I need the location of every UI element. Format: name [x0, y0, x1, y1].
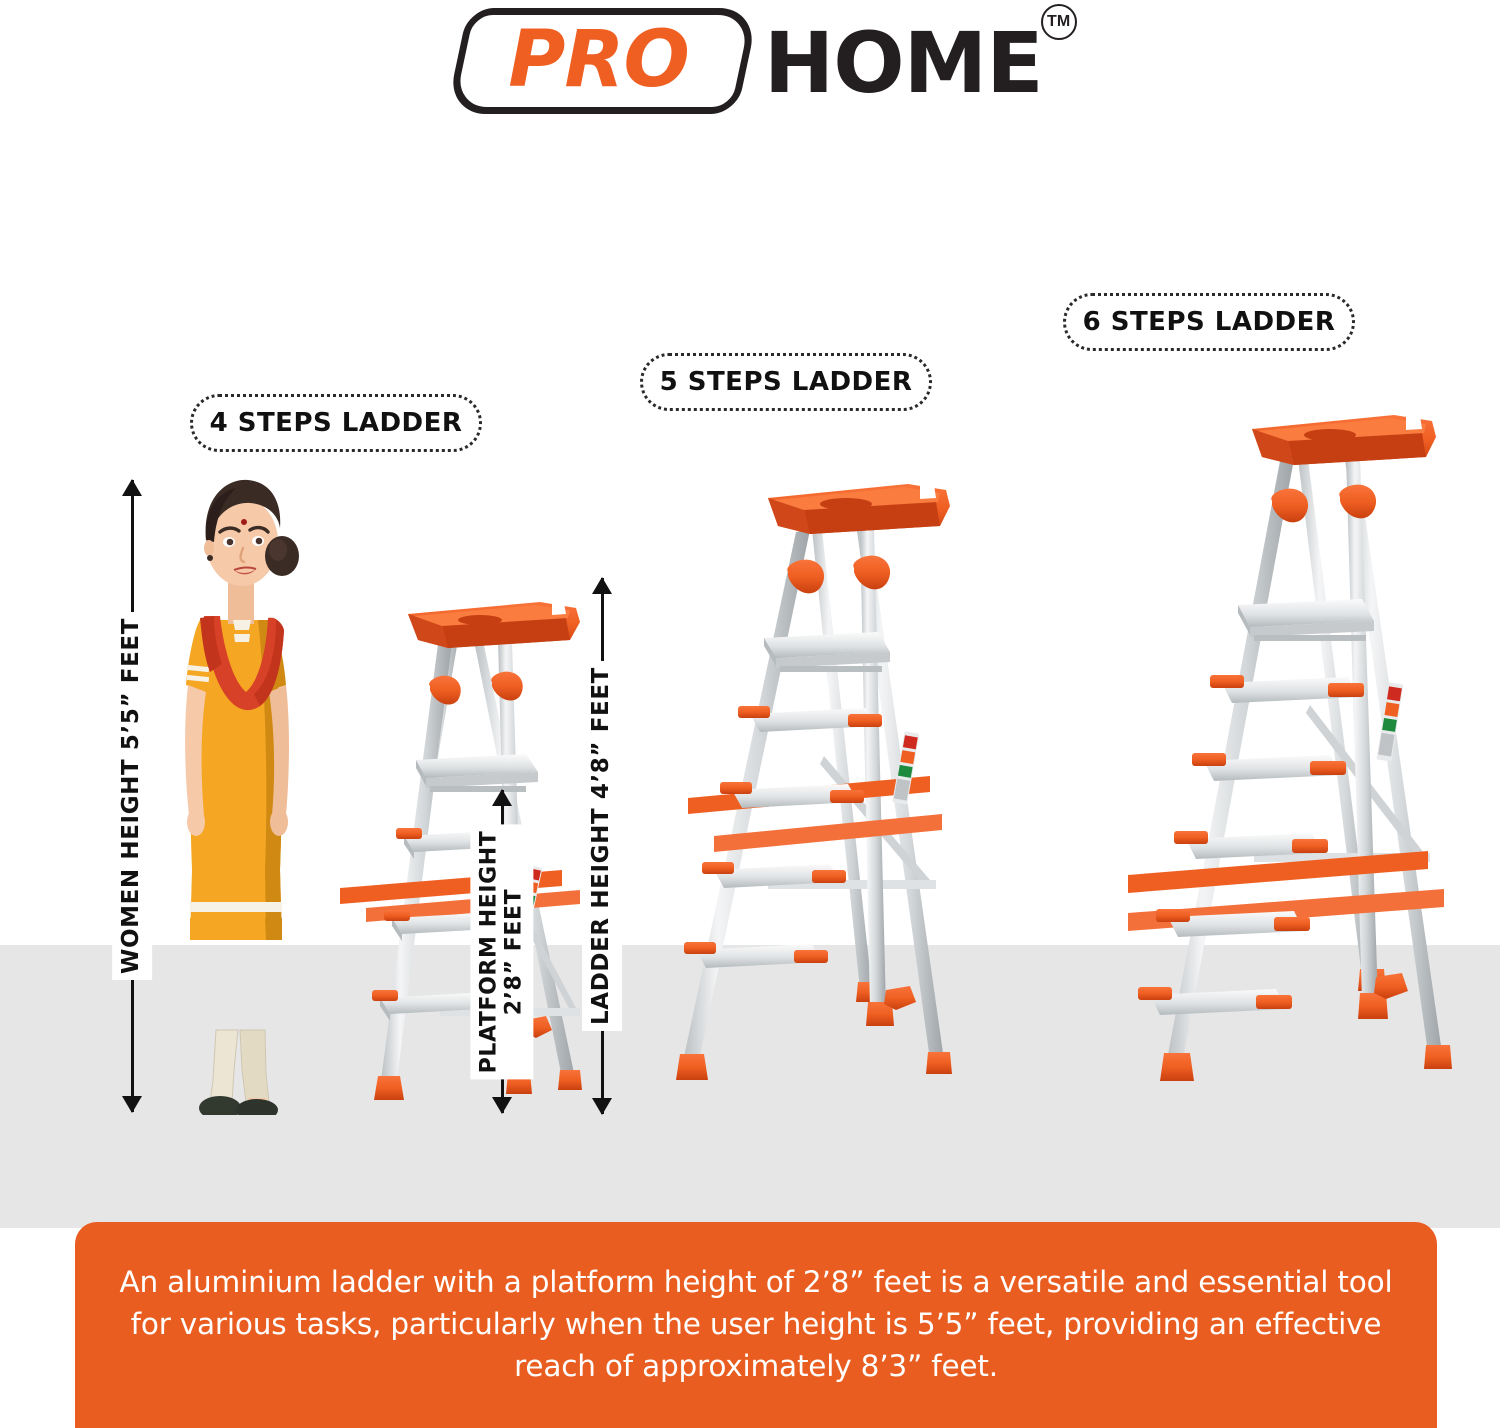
arrow-down-icon — [122, 1096, 142, 1113]
arrow-down-icon — [492, 1097, 512, 1114]
brand-logo: PRO HOME TM — [0, 8, 1500, 114]
dimension-ladder-height: LADDER HEIGHT 4’8” FEET — [590, 578, 614, 1114]
badge-6-steps: 6 STEPS LADDER — [1063, 293, 1355, 351]
dimension-women-height: WOMEN HEIGHT 5’5” FEET — [120, 480, 144, 1112]
infographic-canvas: PRO HOME TM 4 STEPS LADDER 5 STEPS LADDE… — [0, 0, 1500, 1428]
logo-home-text: HOME — [764, 21, 1043, 105]
arrow-down-icon — [592, 1098, 612, 1115]
logo-pro-badge: PRO — [446, 8, 759, 114]
dimension-platform-height-label: PLATFORM HEIGHT 2’8” FEET — [470, 824, 533, 1079]
description-text: An aluminium ladder with a platform heig… — [119, 1262, 1393, 1388]
dimension-ladder-height-label: LADDER HEIGHT 4’8” FEET — [582, 661, 622, 1031]
description-panel: An aluminium ladder with a platform heig… — [75, 1222, 1437, 1428]
logo-pro-text: PRO — [509, 21, 690, 99]
dimension-platform-height: PLATFORM HEIGHT 2’8” FEET — [490, 790, 514, 1113]
trademark-icon: TM — [1041, 4, 1077, 40]
dimension-platform-height-line1: PLATFORM HEIGHT — [477, 830, 502, 1073]
badge-4-steps: 4 STEPS LADDER — [190, 394, 482, 452]
arrow-up-icon — [122, 479, 142, 496]
badge-5-steps: 5 STEPS LADDER — [640, 353, 932, 411]
arrow-up-icon — [492, 789, 512, 806]
arrow-up-icon — [592, 577, 612, 594]
woman-illustration — [170, 470, 320, 1115]
dimension-women-height-label: WOMEN HEIGHT 5’5” FEET — [112, 612, 152, 980]
ladder-5-steps-illustration — [628, 470, 978, 1118]
dimension-platform-height-line2: 2’8” FEET — [502, 830, 527, 1073]
ladder-6-steps-illustration — [1128, 405, 1478, 1117]
